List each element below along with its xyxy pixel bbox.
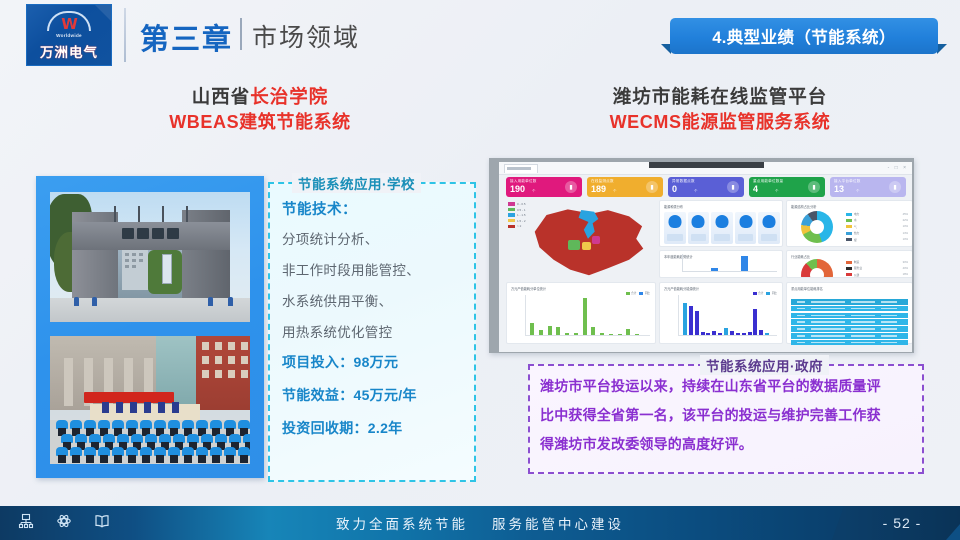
left-title-plain: 山西省 (192, 86, 251, 107)
legend-item: 服务业40% (846, 266, 908, 270)
bar-plot-area (678, 295, 777, 336)
bar (718, 333, 722, 335)
right-info-box-caption: 节能系统应用·政府 (700, 355, 829, 375)
industry-share-card: 行业能耗占比 制造30%服务业40%公建18%其他12% (786, 250, 912, 278)
student-figure (196, 447, 208, 463)
gate-bollard (92, 297, 97, 306)
kpi-card[interactable]: 异常数据点数0个▮ (668, 177, 744, 197)
bar (565, 333, 569, 335)
header-title-bar (240, 18, 242, 50)
legend-item: 电力45% (846, 212, 908, 216)
student-figure (238, 447, 250, 463)
left-title-line2: WBEAS建筑节能系统 (60, 110, 460, 136)
stage-person (158, 402, 165, 413)
card-title: 行业能耗占比 (787, 251, 912, 259)
map-legend-item: 0 - 0.5 (508, 202, 526, 206)
table-row[interactable] (791, 306, 908, 312)
bar-chart-icon: ▮ (808, 181, 820, 193)
stage-person (144, 402, 151, 413)
donut-legend-2: 制造30%服务业40%公建18%其他12% (846, 260, 908, 278)
logo-chinese-text: 万洲电气 (40, 41, 98, 61)
card-title: 万元产值能耗分能源统计 (660, 283, 782, 291)
water-icon (688, 212, 710, 244)
right-paragraph-line: 得潍坊市发改委领导的高度好评。 (540, 434, 916, 454)
logo-corner-accent (95, 5, 111, 21)
topic-badge-label: 4.典型业绩（节能系统） (670, 18, 938, 54)
kpi-card[interactable]: 在线监测点数189个▮ (587, 177, 663, 197)
student-figure (210, 447, 222, 463)
card-title: 重点用能单位能耗排名 (787, 283, 912, 291)
kpi-card[interactable]: 接入平台单位数13个▮ (830, 177, 906, 197)
left-title-line1: 山西省长治学院 (60, 84, 460, 110)
dashboard-viewport: - □ × 接入用能单位数190个▮在线监测点数189个▮异常数据点数0个▮重点… (499, 162, 912, 352)
electricity-icon (664, 212, 686, 244)
donut-chart-1 (801, 211, 833, 243)
ranking-table-card: 重点用能单位能耗排名 (786, 282, 912, 344)
gas-icon (711, 212, 733, 244)
table-row[interactable] (791, 333, 908, 339)
bar (765, 333, 769, 335)
tech-item: 水系统供用平衡、 (282, 290, 472, 310)
gate-name-plaque (108, 226, 192, 241)
campus-gate-photo (50, 192, 250, 322)
bar (748, 332, 752, 335)
gate-plaza-ground (50, 298, 250, 322)
page-number: - 52 - (844, 506, 960, 540)
student-figure (56, 447, 68, 463)
bar (736, 333, 740, 335)
left-photo-frame (36, 176, 264, 478)
table-row[interactable] (791, 319, 908, 325)
card-title: 万元产值能耗分单位统计 (507, 283, 655, 291)
coal-icon (758, 212, 780, 244)
bar (583, 298, 587, 335)
badge-tail-right (937, 44, 947, 54)
energy-type-card: 能源种类分布 (659, 200, 783, 247)
map-district-yellow (582, 242, 591, 250)
bar (730, 331, 734, 335)
slide-root: W Worldwide 万洲电气 第三章 市场领域 4.典型业绩（节能系统） 山… (0, 0, 960, 540)
card-title: 能源结构占比分析 (787, 201, 912, 209)
left-title-accent: 长治学院 (250, 86, 328, 107)
left-info-box-caption: 节能系统应用·学校 (292, 173, 421, 193)
student-figure (98, 447, 110, 463)
company-logo: W Worldwide 万洲电气 (26, 4, 112, 66)
bar (695, 311, 699, 335)
legend-item: 公建18% (846, 273, 908, 277)
legend-item: 热力13% (846, 231, 908, 235)
footer-slogan-left: 致力全面系统节能 (336, 513, 468, 533)
student-figure (182, 447, 194, 463)
student-figure (224, 447, 236, 463)
ranking-table (791, 299, 908, 346)
table-row[interactable] (791, 313, 908, 319)
map-district-green (568, 240, 580, 250)
left-info-box-content: 节能技术： 分项统计分析、 非工作时段用能管控、 水系统供用平衡、 用热系统优化… (282, 198, 472, 451)
browser-address-bar[interactable] (649, 162, 764, 168)
kpi-unit: 个 (775, 188, 778, 193)
table-row[interactable] (791, 299, 908, 305)
map-legend-item: 0.5 - 1 (508, 208, 526, 212)
bar-chart-icon: ▮ (565, 181, 577, 193)
kpi-unit: 个 (613, 188, 616, 193)
gate-bollard (74, 297, 79, 306)
gate-flagpole (138, 206, 140, 222)
metric-investment: 项目投入：98万元 (282, 352, 472, 372)
dashboard-screenshot: - □ × 接入用能单位数190个▮在线监测点数189个▮异常数据点数0个▮重点… (489, 158, 914, 353)
bar (724, 328, 728, 335)
slide-footer: 致力全面系统节能 服务能管中心建设 - 52 - (0, 506, 960, 540)
logo-latin-text: Worldwide (56, 33, 82, 38)
kpi-card[interactable]: 重点用能单位数量4个▮ (749, 177, 825, 197)
chapter-title: 第三章 (140, 16, 233, 58)
legend-item: 水22% (846, 218, 908, 222)
bar (539, 330, 543, 335)
gate-flagpole (162, 206, 164, 222)
student-figure (112, 447, 124, 463)
gate-flagpole (114, 206, 116, 222)
building-column (64, 358, 73, 406)
left-project-title: 山西省长治学院 WBEAS建筑节能系统 (60, 84, 460, 136)
alert-icon: ▮ (727, 181, 739, 193)
tech-heading: 节能技术： (282, 198, 472, 219)
tech-item: 非工作时段用能管控、 (282, 259, 472, 279)
legend-item: 煤10% (846, 238, 908, 242)
student-figure (154, 447, 166, 463)
donut-legend-1: 电力45%水22%气10%热力13%煤10% (846, 212, 908, 244)
bar (626, 329, 630, 335)
bar (701, 332, 705, 335)
footer-slogan: 致力全面系统节能 服务能管中心建设 (0, 506, 960, 540)
assembly-red-building (196, 336, 250, 410)
logo-w-mark-icon: W (47, 11, 91, 31)
kpi-unit: 个 (856, 188, 859, 193)
bar-plot-area (525, 295, 650, 336)
topic-badge: 4.典型业绩（节能系统） (670, 18, 938, 54)
tech-item: 分项统计分析、 (282, 228, 472, 248)
kpi-unit: 个 (532, 188, 535, 193)
table-row[interactable] (791, 340, 908, 346)
window-controls[interactable]: - □ × (888, 165, 908, 171)
gate-guard-post (162, 254, 172, 284)
right-title-line2: WECMS能源监管服务系统 (500, 110, 940, 136)
bar (711, 268, 718, 271)
kpi-unit: 个 (694, 188, 697, 193)
card-title: 能源种类分布 (660, 201, 782, 209)
dashboard-bottom-region: 万元产值能耗分单位统计 合计 同比 万元产值能耗分能源统计 合计 同比 (506, 282, 906, 344)
gate-background-building (122, 250, 148, 290)
stage-person (102, 402, 109, 413)
bar (556, 327, 560, 335)
right-paragraph-line: 潍坊市平台投运以来，持续在山东省平台的数据质量评 (540, 376, 916, 396)
map-legend: 0 - 0.50.5 - 11 - 1.51.5 - 2> 2 (508, 202, 526, 230)
bar (530, 323, 534, 335)
gate-bollard (228, 297, 233, 306)
tech-item: 用热系统优化管控 (282, 321, 472, 341)
dashboard-middle-region: 0 - 0.50.5 - 11 - 1.51.5 - 2> 2 能源种类分布 (506, 200, 906, 278)
bar (548, 326, 552, 335)
student-figure (140, 447, 152, 463)
kpi-card[interactable]: 接入用能单位数190个▮ (506, 177, 582, 197)
bar (574, 333, 578, 335)
bar (600, 333, 604, 335)
bar (618, 334, 622, 335)
logo-w-letter: W (61, 17, 77, 32)
student-figure (126, 447, 138, 463)
gate-flagpole (186, 206, 188, 222)
map-legend-item: > 2 (508, 224, 526, 228)
header-divider (124, 8, 126, 62)
map-legend-item: 1.5 - 2 (508, 219, 526, 223)
bar (742, 333, 746, 335)
unit-energy-card: 万元产值能耗分单位统计 合计 同比 (506, 282, 656, 344)
right-project-title: 潍坊市能耗在线监管平台 WECMS能源监管服务系统 (500, 84, 940, 136)
bar (753, 309, 757, 335)
stage-person (116, 402, 123, 413)
right-paragraph-line: 比中获得全省第一名，该平台的投运与维护完善工作获 (540, 405, 916, 425)
bar (706, 333, 710, 335)
student-figure (70, 447, 82, 463)
bar (635, 334, 639, 335)
map-legend-item: 1 - 1.5 (508, 213, 526, 217)
stage-person (172, 402, 179, 413)
stage-person (130, 402, 137, 413)
bar (759, 330, 763, 335)
heat-icon (735, 212, 757, 244)
donut-chart-2 (801, 259, 833, 278)
energy-structure-card: 能源结构占比分析 电力45%水22%气10%热力13%煤10% (786, 200, 912, 247)
slide-header: W Worldwide 万洲电气 第三章 市场领域 4.典型业绩（节能系统） (0, 0, 960, 76)
kpi-card-row: 接入用能单位数190个▮在线监测点数189个▮异常数据点数0个▮重点用能单位数量… (506, 177, 906, 197)
browser-tab[interactable] (504, 164, 538, 173)
bar (741, 256, 748, 271)
gauge-icon: ▮ (646, 181, 658, 193)
bar (683, 303, 687, 335)
bar (591, 327, 595, 335)
student-figure (84, 447, 96, 463)
table-row[interactable] (791, 326, 908, 332)
right-title-line1: 潍坊市能耗在线监管平台 (500, 84, 940, 110)
bar (609, 334, 613, 335)
map-district-magenta (592, 236, 600, 244)
footer-slogan-right: 服务能管中心建设 (492, 513, 624, 533)
student-figure (168, 447, 180, 463)
legend-item: 气10% (846, 225, 908, 229)
energy-icon-row (664, 212, 780, 244)
yearly-trend-card: 本年度能耗趋势统计 (659, 250, 783, 278)
students-assembly-photo (50, 336, 250, 464)
bar (689, 306, 693, 335)
region-map-card: 0 - 0.50.5 - 11 - 1.51.5 - 2> 2 (506, 200, 656, 278)
browser-chrome: - □ × (499, 162, 912, 175)
right-info-box-content: 潍坊市平台投运以来，持续在山东省平台的数据质量评 比中获得全省第一名，该平台的投… (540, 376, 916, 463)
metric-saving: 节能效益：45万元/年 (282, 385, 472, 405)
bar-plot-area (682, 254, 777, 272)
bar (712, 331, 716, 335)
section-title: 市场领域 (252, 18, 360, 54)
source-energy-card: 万元产值能耗分能源统计 合计 同比 (659, 282, 783, 344)
student-row (50, 447, 250, 464)
gate-bollard (208, 297, 213, 306)
legend-item: 制造30% (846, 260, 908, 264)
metric-payback: 投资回收期：2.2年 (282, 418, 472, 438)
check-icon: ▮ (889, 181, 901, 193)
